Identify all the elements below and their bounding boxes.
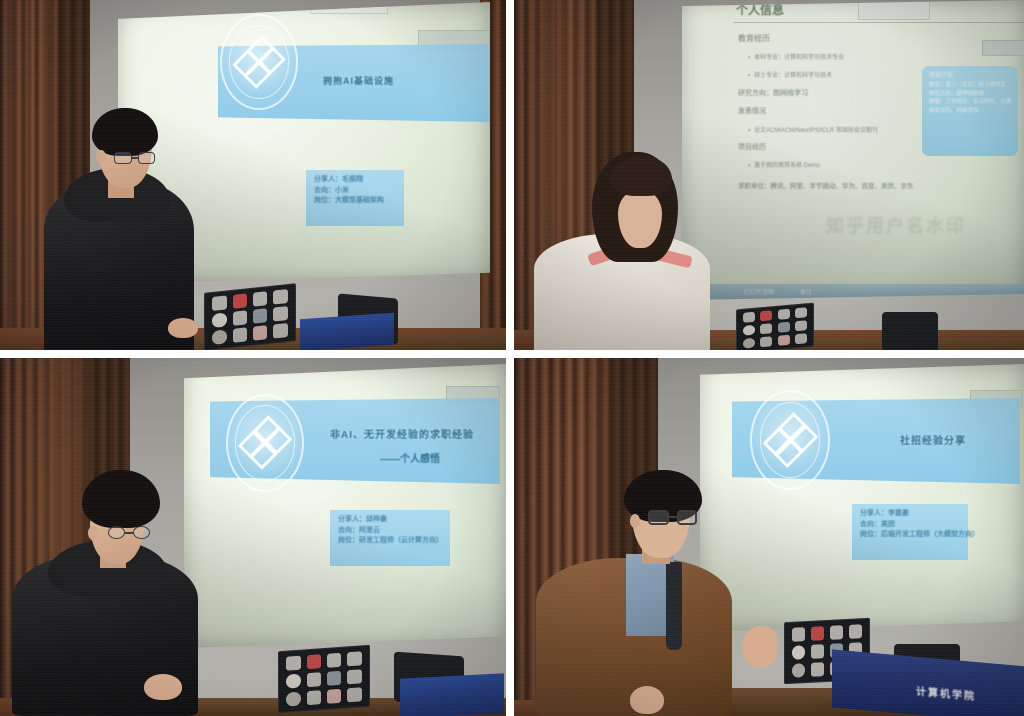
projection-screen: 非AI、无开发经验的求职经验 ——个人感悟 分享人：邱梓豪 去向：阿里云 岗位：… <box>184 364 506 648</box>
slide-title: 拥抱AI基础设施 <box>323 74 394 87</box>
bullet-item: 论文ACM/ACM/NeurIPS/ICLR 等国际会议期刊 <box>748 125 878 134</box>
panel-top-left: 拥抱AI基础设施 分享人：毛振翔 去向：小米 岗位：大模型基础架构 <box>0 0 506 350</box>
projection-screen: 社招经验分享 分享人：李嘉豪 去向：美团 岗位：后端开发工程师（大模型方向） <box>700 364 1024 632</box>
university-seal-logo <box>750 390 830 490</box>
slide-title: 社招经验分享 <box>900 432 966 447</box>
info-line-presenter: 分享人：李嘉豪 <box>860 509 960 520</box>
blue-panel <box>300 313 394 350</box>
projection-screen: 个人信息 教育经历 本科专业：计算机科学与技术专业 硕士专业：计算机科学与技术 … <box>682 0 1024 300</box>
title-rule <box>734 22 1024 23</box>
bullet-item: 本科专业：计算机科学与技术专业 <box>748 52 844 61</box>
bullet-item: 硕士专业：计算机科学与技术 <box>748 70 832 79</box>
callout-line: 自我介绍 <box>929 72 1011 81</box>
slide-watermark: 知乎用户名水印 <box>826 212 966 238</box>
panel-bottom-left: 非AI、无开发经验的求职经验 ——个人感悟 分享人：邱梓豪 去向：阿里云 岗位：… <box>0 358 506 716</box>
laptop-with-stickers <box>278 645 370 713</box>
fringe <box>610 156 672 196</box>
ear <box>88 526 98 540</box>
slide-info-box: 分享人：毛振翔 去向：小米 岗位：大模型基础架构 <box>306 170 404 226</box>
callout-line: 研究方向：图神经网络 <box>929 90 1011 99</box>
monitor <box>882 312 938 350</box>
hair <box>82 470 160 528</box>
tie <box>666 562 682 650</box>
section-heading-education: 教育经历 <box>738 33 770 44</box>
panel-top-right: 个人信息 教育经历 本科专业：计算机科学与技术专业 硕士专业：计算机科学与技术 … <box>514 0 1024 350</box>
slide-title: 非AI、无开发经验的求职经验 <box>330 426 474 441</box>
slide-subtitle: ——个人感悟 <box>380 450 440 465</box>
taskbar-item[interactable]: 幻灯片放映 <box>744 287 774 296</box>
window-fragment-right <box>982 40 1024 56</box>
photo-collage: 拥抱AI基础设施 分享人：毛振翔 去向：小米 岗位：大模型基础架构 <box>0 0 1024 716</box>
laptop-with-stickers <box>736 303 814 350</box>
callout-line: 获奖经历、科研项目 <box>929 107 1011 116</box>
info-line-position: 岗位：后端开发工程师（大模型方向） <box>860 530 960 541</box>
hand <box>144 674 182 700</box>
podium-label: 计算机学院 <box>916 683 976 703</box>
hand <box>168 318 198 338</box>
slide-callout-box: 自我介绍 姓名：张三（化名）硕士研究生 研究方向：图神经网络 邮箱：工作经历、实… <box>922 66 1018 156</box>
info-line-position: 岗位：大模型基础架构 <box>314 196 396 207</box>
info-line-presenter: 分享人：邱梓豪 <box>338 515 442 526</box>
section-heading-employers: 求职单位：腾讯、阿里、字节跳动、华为、百度、美团、京东 <box>738 180 914 190</box>
hand-gesture <box>742 626 778 668</box>
info-line-position: 岗位：研发工程师（云计算方向） <box>338 536 442 547</box>
info-line-destination: 去向：阿里云 <box>338 526 442 537</box>
ear <box>96 150 106 164</box>
info-line-destination: 去向：美团 <box>860 520 960 531</box>
section-heading-projects: 项目经历 <box>738 142 766 152</box>
glasses <box>114 152 156 165</box>
panel-bottom-right: 社招经验分享 分享人：李嘉豪 去向：美团 岗位：后端开发工程师（大模型方向） 计… <box>514 358 1024 716</box>
callout-line: 姓名：张三（化名）硕士研究生 <box>929 81 1011 90</box>
info-line-presenter: 分享人：毛振翔 <box>314 175 396 186</box>
face-front <box>618 190 662 248</box>
blue-panel <box>400 673 504 716</box>
university-seal-logo <box>226 394 304 492</box>
glasses <box>108 526 152 540</box>
hand-lower <box>630 686 664 714</box>
hair <box>92 108 158 156</box>
callout-line: 邮箱：工作经历、实习经历、比赛 <box>929 98 1011 107</box>
taskbar-item[interactable]: 备注 <box>800 287 812 296</box>
info-line-destination: 去向：小米 <box>314 186 396 197</box>
university-seal-logo <box>220 14 298 110</box>
section-heading-research: 研究方向：图网络学习 <box>738 88 808 98</box>
slide-info-box: 分享人：李嘉豪 去向：美团 岗位：后端开发工程师（大模型方向） <box>852 504 968 560</box>
laptop-with-stickers <box>204 283 296 350</box>
section-heading-publications: 发表情况 <box>738 106 766 116</box>
glasses <box>648 510 698 526</box>
window-fragment <box>858 0 930 20</box>
ear <box>630 514 640 528</box>
slide-info-box: 分享人：邱梓豪 去向：阿里云 岗位：研发工程师（云计算方向） <box>330 510 450 566</box>
bullet-item: 基于图的推荐系统 Demo <box>748 160 820 169</box>
